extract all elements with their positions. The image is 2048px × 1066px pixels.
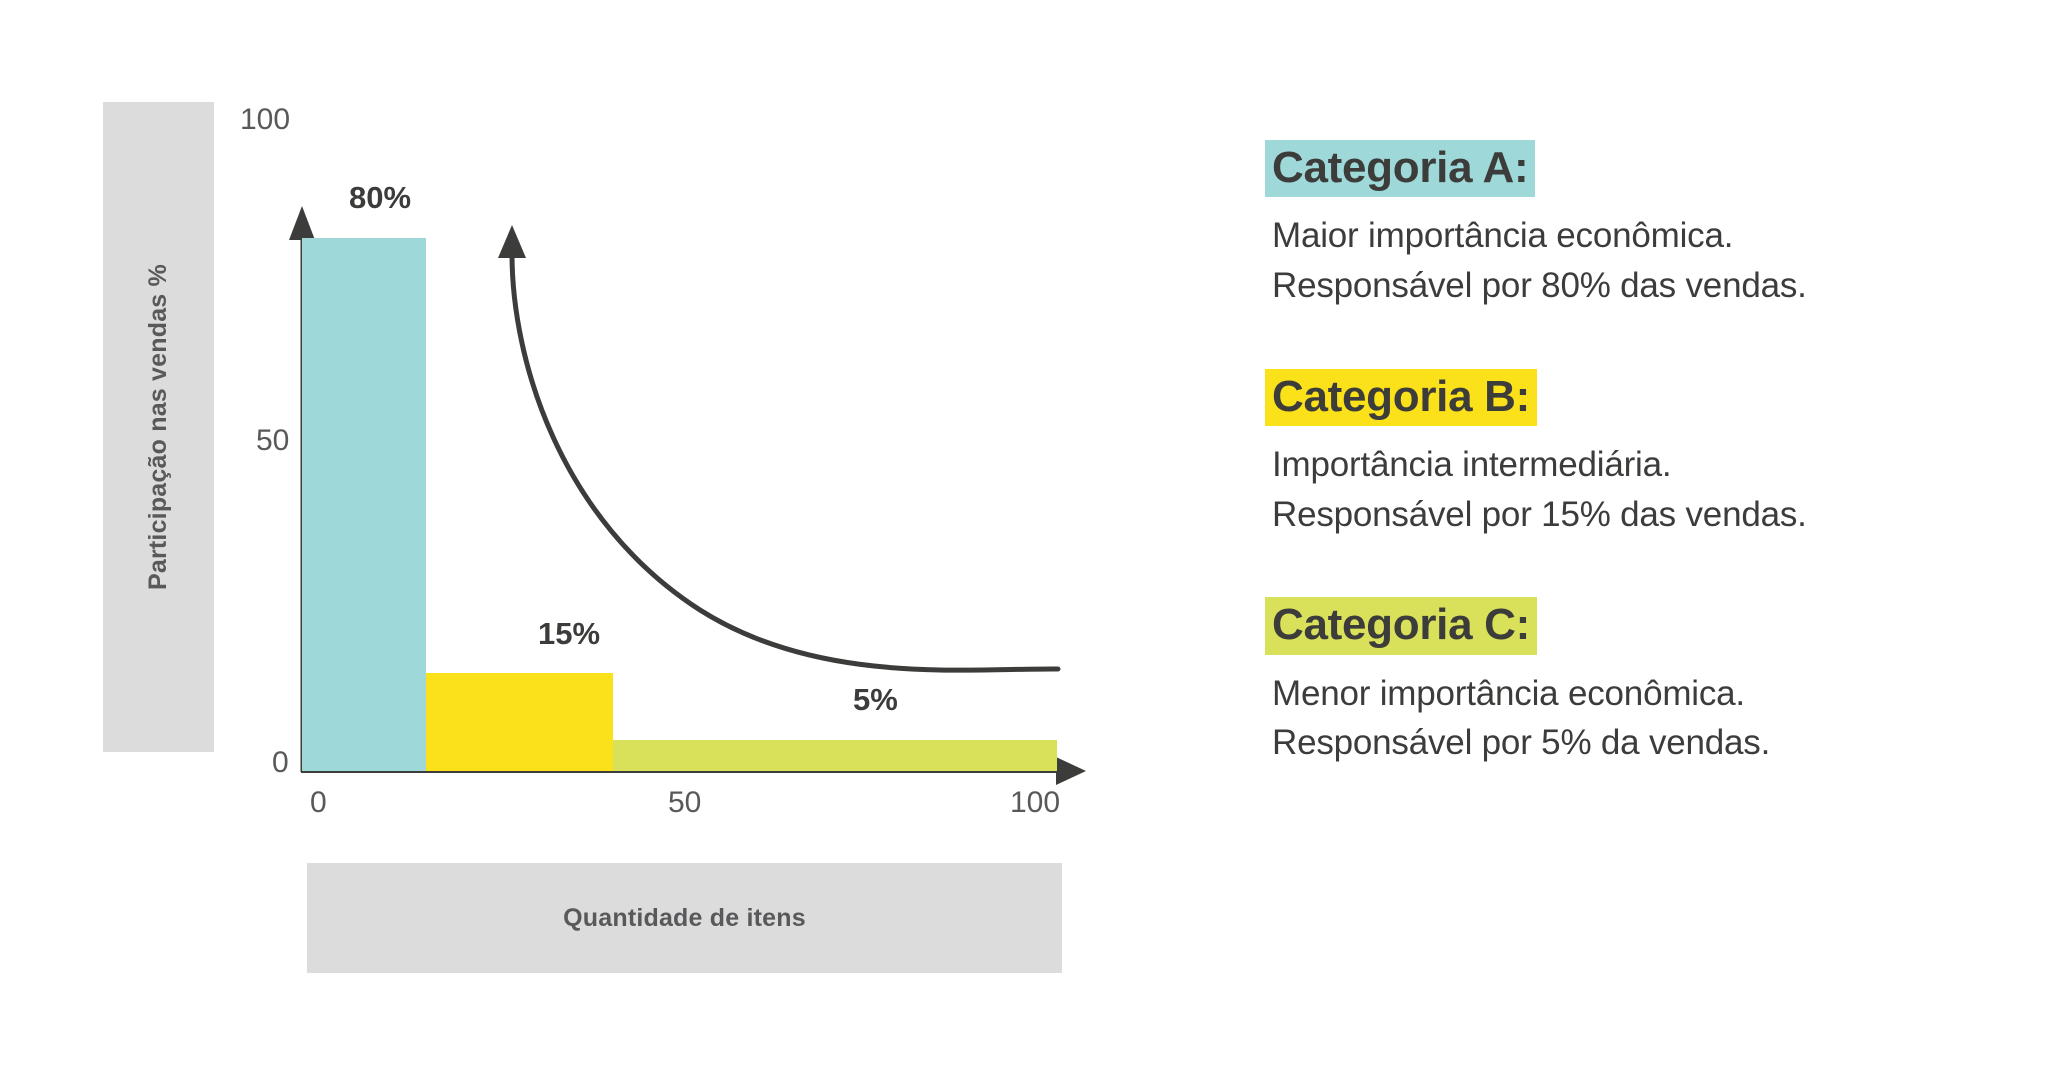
category-block-b: Categoria B: Importância intermediária. … xyxy=(1265,369,2005,540)
chart-region: Participação nas vendas % 80% 15% 5% 100 xyxy=(0,0,1120,1066)
category-b-line-1: Importância intermediária. xyxy=(1272,440,2005,490)
category-a-line-1: Maior importância econômica. xyxy=(1272,211,2005,261)
category-a-line-2: Responsável por 80% das vendas. xyxy=(1272,261,2005,311)
x-tick-0: 0 xyxy=(310,786,327,820)
y-axis-arrowhead xyxy=(289,206,315,240)
category-c-line-2: Responsável por 5% da vendas. xyxy=(1272,718,2005,768)
x-axis-arrowhead xyxy=(1056,757,1086,785)
category-block-c: Categoria C: Menor importância econômica… xyxy=(1265,597,2005,768)
y-tick-100: 100 xyxy=(240,103,290,137)
category-b-title: Categoria B: xyxy=(1265,369,1537,426)
bar-categoria-b[interactable] xyxy=(426,673,613,771)
category-c-line-1: Menor importância econômica. xyxy=(1272,669,2005,719)
category-c-title: Categoria C: xyxy=(1265,597,1537,654)
pareto-curve-arrowhead xyxy=(498,225,526,258)
y-tick-50: 50 xyxy=(256,424,289,458)
bar-categoria-c[interactable] xyxy=(613,740,1057,771)
bar-categoria-a[interactable] xyxy=(302,238,426,771)
category-c-lines: Menor importância econômica. Responsável… xyxy=(1265,669,2005,768)
pareto-abc-infographic: Participação nas vendas % 80% 15% 5% 100 xyxy=(0,0,2048,1066)
category-descriptions-panel: Categoria A: Maior importância econômica… xyxy=(1265,140,2005,768)
bar-value-b: 15% xyxy=(538,616,600,652)
y-tick-0: 0 xyxy=(272,746,289,780)
x-axis-label: Quantidade de itens xyxy=(563,904,806,933)
bar-value-a: 80% xyxy=(349,180,411,216)
pareto-curve xyxy=(512,254,1058,670)
x-tick-50: 50 xyxy=(668,786,701,820)
category-b-line-2: Responsável por 15% das vendas. xyxy=(1272,490,2005,540)
x-axis-label-box: Quantidade de itens xyxy=(307,863,1062,973)
category-a-lines: Maior importância econômica. Responsável… xyxy=(1265,211,2005,310)
category-a-title: Categoria A: xyxy=(1265,140,1535,197)
category-b-lines: Importância intermediária. Responsável p… xyxy=(1265,440,2005,539)
x-tick-100: 100 xyxy=(1010,786,1060,820)
category-block-a: Categoria A: Maior importância econômica… xyxy=(1265,140,2005,311)
bar-value-c: 5% xyxy=(853,682,898,718)
